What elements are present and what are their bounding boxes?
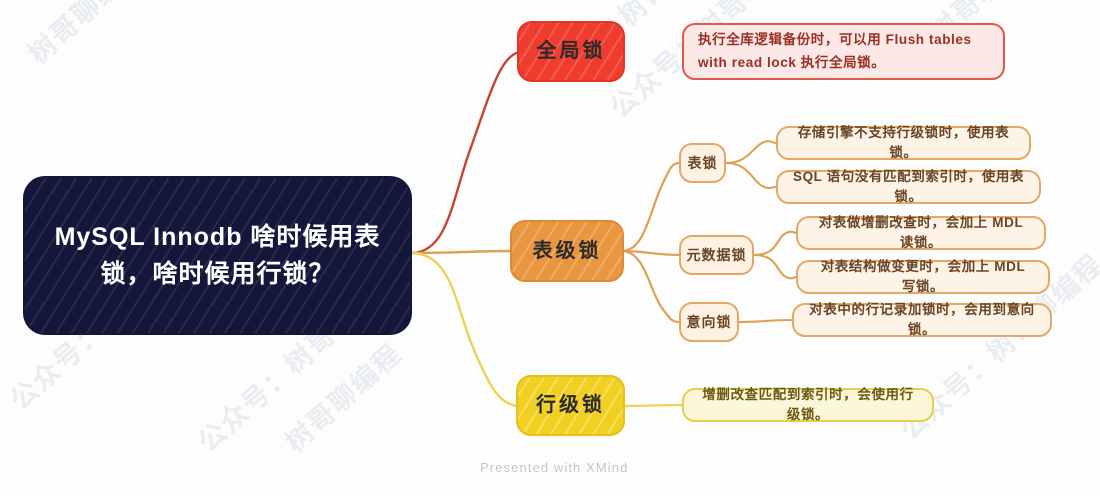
- sub-node-table-lock[interactable]: 表锁: [679, 143, 726, 183]
- leaf-node-table-lock-2[interactable]: SQL 语句没有匹配到索引时，使用表锁。: [776, 170, 1041, 204]
- sub-node-intention-lock[interactable]: 意向锁: [679, 302, 739, 342]
- leaf-node-global-lock-1[interactable]: 执行全库逻辑备份时，可以用 Flush tables with read loc…: [682, 23, 1005, 80]
- leaf-label-intention-lock-1: 对表中的行记录加锁时，会用到意向锁。: [808, 300, 1036, 339]
- branch-node-row-level-lock[interactable]: 行级锁: [518, 377, 623, 434]
- branch-node-global-lock[interactable]: 全局锁: [519, 23, 623, 80]
- leaf-label-table-lock-2: SQL 语句没有匹配到索引时，使用表锁。: [792, 167, 1025, 206]
- leaf-label-metadata-lock-2: 对表结构做变更时，会加上 MDL 写锁。: [812, 257, 1034, 296]
- sub-node-label-metadata-lock: 元数据锁: [687, 245, 747, 265]
- branch-node-table-level-lock[interactable]: 表级锁: [512, 222, 622, 280]
- sub-node-metadata-lock[interactable]: 元数据锁: [679, 235, 754, 275]
- branch-label-table-level-lock: 表级锁: [533, 237, 602, 266]
- watermark-brand: 树哥聊编程: [275, 333, 409, 459]
- leaf-node-intention-lock-1[interactable]: 对表中的行记录加锁时，会用到意向锁。: [792, 303, 1052, 337]
- sub-node-label-table-lock: 表锁: [688, 153, 718, 173]
- leaf-node-row-level-lock-1[interactable]: 增删改查匹配到索引时，会使用行级锁。: [682, 388, 934, 422]
- leaf-node-metadata-lock-1[interactable]: 对表做增删改查时，会加上 MDL 读锁。: [796, 216, 1046, 250]
- leaf-label-global-lock-1: 执行全库逻辑备份时，可以用 Flush tables with read loc…: [698, 29, 989, 74]
- leaf-node-table-lock-1[interactable]: 存储引擎不支持行级锁时，使用表锁。: [776, 126, 1031, 160]
- root-node-label: MySQL Innodb 啥时候用表锁，啥时候用行锁？: [51, 219, 384, 292]
- branch-label-row-level-lock: 行级锁: [536, 391, 605, 420]
- mindmap-canvas: 树哥聊编程 公众号：树哥聊编程 公众号：树哥聊编程 树哥聊编程 树哥聊编程 公众…: [0, 0, 1100, 496]
- branch-label-global-lock: 全局锁: [537, 37, 606, 66]
- root-node[interactable]: MySQL Innodb 啥时候用表锁，啥时候用行锁？: [25, 178, 410, 333]
- leaf-label-table-lock-1: 存储引擎不支持行级锁时，使用表锁。: [792, 123, 1015, 162]
- xmind-attribution: Presented with XMind: [480, 460, 628, 475]
- leaf-label-metadata-lock-1: 对表做增删改查时，会加上 MDL 读锁。: [812, 213, 1030, 252]
- leaf-node-metadata-lock-2[interactable]: 对表结构做变更时，会加上 MDL 写锁。: [796, 260, 1050, 294]
- watermark-brand: 树哥聊编程: [18, 0, 152, 71]
- sub-node-label-intention-lock: 意向锁: [687, 312, 732, 332]
- leaf-label-row-level-lock-1: 增删改查匹配到索引时，会使用行级锁。: [698, 385, 918, 424]
